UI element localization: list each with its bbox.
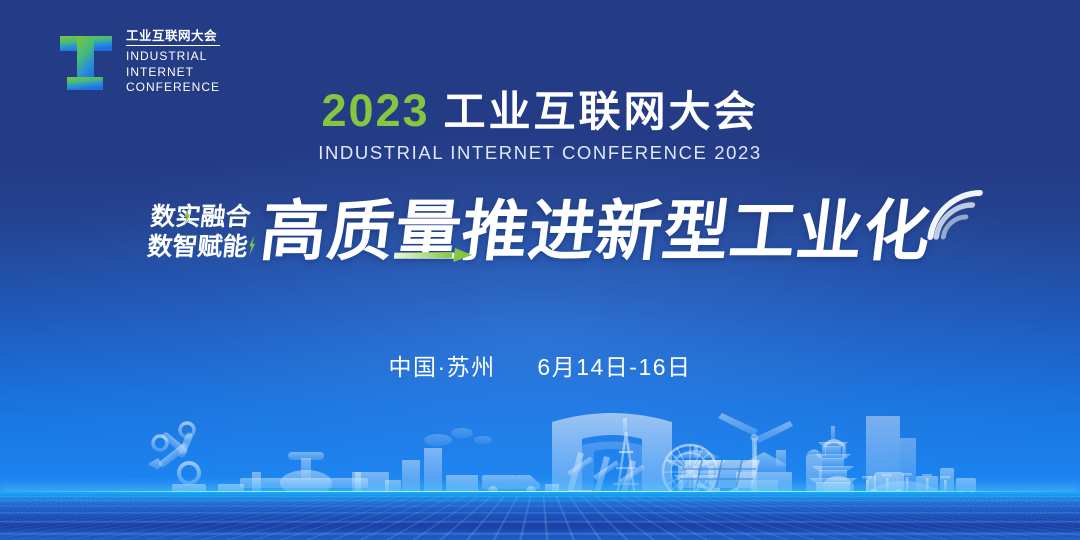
conference-poster: 工业互联网大会 INDUSTRIAL INTERNET CONFERENCE 2… [0, 0, 1080, 540]
perspective-grid-floor [0, 492, 1080, 540]
headline-main-wrap: 高质量推进新型工业化 [257, 199, 935, 265]
logo-chinese-name: 工业互联网大会 [126, 30, 220, 46]
slogan-line-1-wrap: 数实融合 [149, 204, 252, 231]
conference-logo: 工业互联网大会 INDUSTRIAL INTERNET CONFERENCE [57, 30, 220, 96]
headline-area: 数实融合 数智赋能 高质量推进新型工业化 [0, 182, 1080, 282]
slogan-line-2: 数智赋能 [146, 232, 249, 261]
event-details: 中国·苏州 6月14日-16日 [0, 348, 1080, 382]
slogan-line-1: 数实融合 [149, 202, 252, 231]
event-location: 中国·苏州 [388, 354, 495, 380]
robot-arm-icon [148, 423, 206, 495]
factory-smokestacks-icon [355, 428, 492, 495]
title-year: 2023 [321, 88, 429, 133]
conference-title: 2023 工业互联网大会 [0, 88, 1080, 133]
wifi-signal-icon [919, 185, 989, 247]
slogan-line-2-wrap: 数智赋能 [146, 234, 249, 261]
logo-en-line-1: INDUSTRIAL [126, 49, 220, 65]
event-dates: 6月14日-16日 [537, 354, 691, 380]
pipe-valve-icon [240, 452, 368, 496]
gate-of-the-orient-icon [552, 413, 672, 497]
title-subtitle-english: INDUSTRIAL INTERNET CONFERENCE 2023 [0, 142, 1080, 164]
iic-i-monogram-logo-icon [57, 32, 115, 94]
title-chinese: 工业互联网大会 [444, 91, 759, 133]
logo-en-line-2: INTERNET [126, 65, 220, 81]
headline-slogan: 数实融合 数智赋能 [146, 204, 252, 260]
headline-main-text: 高质量推进新型工业化 [256, 193, 935, 270]
forward-arrow-icon [393, 248, 473, 261]
logo-wordmark: 工业互联网大会 INDUSTRIAL INTERNET CONFERENCE [126, 30, 220, 96]
